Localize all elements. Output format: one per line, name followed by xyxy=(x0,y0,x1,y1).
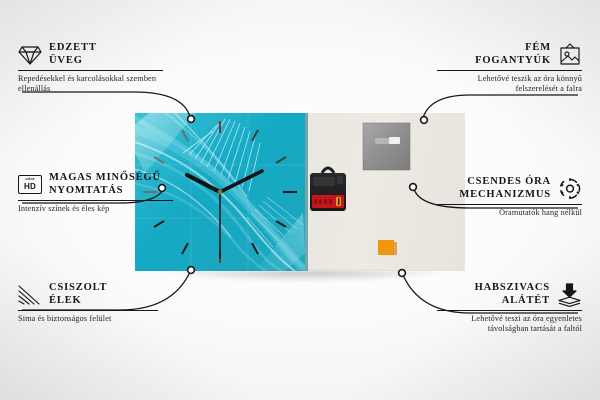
callout-divider xyxy=(18,70,163,71)
connector-dot-fem-fogantyuk xyxy=(421,117,428,124)
callout-habszivacs-alatet: HABSZIVACS ALÁTÉT Lehetővé teszi az óra … xyxy=(437,282,582,334)
callout-edzett-uveg: EDZETT ÜVEG Repedésekkel és karcolásokka… xyxy=(18,42,163,94)
callout-title-line1: EDZETT xyxy=(49,42,97,55)
callout-title-line2: ÜVEG xyxy=(49,55,97,68)
callout-description: Sima és biztonságos felület xyxy=(18,314,158,324)
callout-title-line1: CSENDES ÓRA xyxy=(459,176,551,189)
callout-divider xyxy=(437,204,582,205)
callout-description: Óramutatók hang nélkül xyxy=(437,208,582,218)
callout-divider xyxy=(437,310,582,311)
callout-description: Repedésekkel és karcolásokkal szemben el… xyxy=(18,74,163,94)
callout-title-line1: FÉM xyxy=(475,42,551,55)
callout-title-line1: MAGAS MINŐSÉGŰ xyxy=(49,172,161,185)
callout-title-line2: ALÁTÉT xyxy=(475,295,550,308)
callout-title-line2: NYOMTATÁS xyxy=(49,185,161,198)
connector-edzett-uveg xyxy=(22,92,190,117)
diamond-icon xyxy=(18,44,42,66)
picture-hanger-icon xyxy=(558,43,582,66)
callout-title-line2: MECHANIZMUS xyxy=(459,189,551,202)
callout-title-line1: HABSZIVACS xyxy=(475,282,550,295)
callout-divider xyxy=(18,310,158,311)
infographic-canvas: EDZETT ÜVEG Repedésekkel és karcolásokka… xyxy=(0,0,600,400)
callout-divider xyxy=(18,200,173,201)
callout-divider xyxy=(437,70,582,71)
ultra-hd-icon-main-label: HD xyxy=(24,183,36,191)
connector-fem-fogantyuk xyxy=(423,95,578,118)
connector-dot-csendes-ora xyxy=(410,184,417,191)
callout-csendes-ora-mechanizmus: CSENDES ÓRA MECHANIZMUS Óramutatók hang … xyxy=(437,176,582,218)
callout-fem-fogantyuk: FÉM FOGANTYÚK Lehetővé teszik az óra kön… xyxy=(437,42,582,94)
ultra-hd-icon: ultra HD xyxy=(18,175,42,194)
gear-icon xyxy=(558,177,582,200)
callout-title-line1: CSISZOLT xyxy=(49,282,107,295)
connector-dot-edzett-uveg xyxy=(188,116,195,123)
callout-title-line2: FOGANTYÚK xyxy=(475,55,551,68)
connector-dot-habszivacs xyxy=(399,270,406,277)
callout-description: Lehetővé teszi az óra egyenletes távolsá… xyxy=(437,314,582,334)
connector-dot-csiszolt-elek xyxy=(188,267,195,274)
callout-description: Intenzív színek és éles kép xyxy=(18,204,173,214)
callout-description: Lehetővé teszik az óra könnyű felszerelé… xyxy=(437,74,582,94)
foam-pad-icon xyxy=(557,283,582,307)
beveled-edge-icon xyxy=(18,284,42,306)
callout-csiszolt-elek: CSISZOLT ÉLEK Sima és biztonságos felüle… xyxy=(18,282,158,324)
callout-magas-minosegu-nyomtatas: ultra HD MAGAS MINŐSÉGŰ NYOMTATÁS Intenz… xyxy=(18,172,173,214)
callout-title-line2: ÉLEK xyxy=(49,295,107,308)
